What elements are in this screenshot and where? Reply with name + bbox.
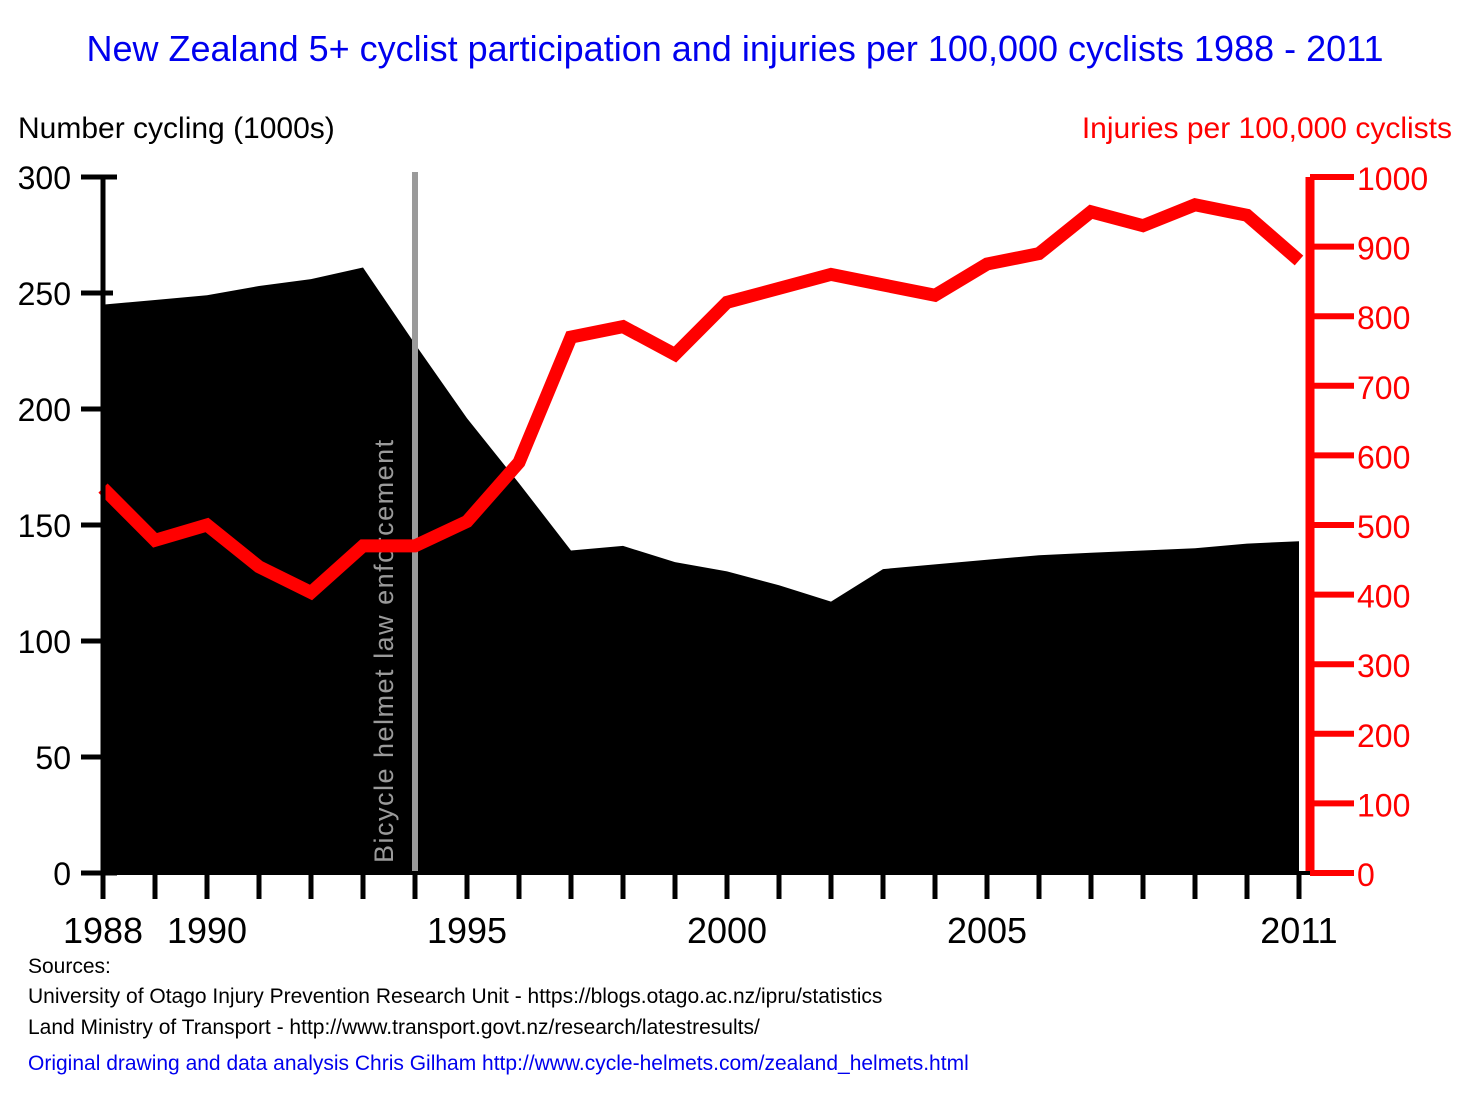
- sources-block: Sources: University of Otago Injury Prev…: [28, 952, 882, 1043]
- left-axis-tick-label: 150: [18, 508, 71, 544]
- right-axis-tick-label: 900: [1357, 231, 1410, 267]
- left-axis-tick-label: 250: [18, 276, 71, 312]
- left-axis-tick-label: 200: [18, 392, 71, 428]
- right-axis-tick-label: 100: [1357, 787, 1410, 823]
- chart-root: New Zealand 5+ cyclist participation and…: [0, 0, 1470, 1095]
- right-axis-tick-label: 1000: [1357, 161, 1428, 197]
- left-axis-tick-label: 300: [18, 160, 71, 196]
- plot-area: Bicycle helmet law enforcement0501001502…: [0, 0, 1470, 945]
- left-axis-tick-label: 0: [53, 856, 71, 892]
- x-axis-tick-label: 1988: [63, 910, 143, 945]
- sources-line-1: University of Otago Injury Prevention Re…: [28, 982, 882, 1012]
- right-axis-tick-label: 300: [1357, 648, 1410, 684]
- x-axis-tick-label: 2011: [1260, 910, 1337, 945]
- right-axis-tick-label: 800: [1357, 300, 1410, 336]
- participation-area: [103, 268, 1299, 874]
- right-axis-tick-label: 500: [1357, 509, 1410, 545]
- sources-heading: Sources:: [28, 952, 882, 982]
- credit-line: Original drawing and data analysis Chris…: [28, 1052, 969, 1076]
- x-axis-tick-label: 1995: [427, 910, 507, 945]
- x-axis-tick-label: 1990: [167, 910, 247, 945]
- right-axis-tick-label: 200: [1357, 718, 1410, 754]
- right-axis-tick-label: 600: [1357, 439, 1410, 475]
- sources-line-2: Land Ministry of Transport - http://www.…: [28, 1013, 882, 1043]
- right-axis-tick-label: 0: [1357, 857, 1375, 893]
- left-axis-tick-label: 50: [35, 740, 71, 776]
- x-axis-tick-label: 2000: [687, 910, 767, 945]
- right-axis-tick-label: 400: [1357, 579, 1410, 615]
- left-axis-tick-label: 100: [18, 624, 71, 660]
- annotation-label: Bicycle helmet law enforcement: [369, 438, 399, 863]
- x-axis-tick-label: 2005: [947, 910, 1027, 945]
- right-axis-tick-label: 700: [1357, 370, 1410, 406]
